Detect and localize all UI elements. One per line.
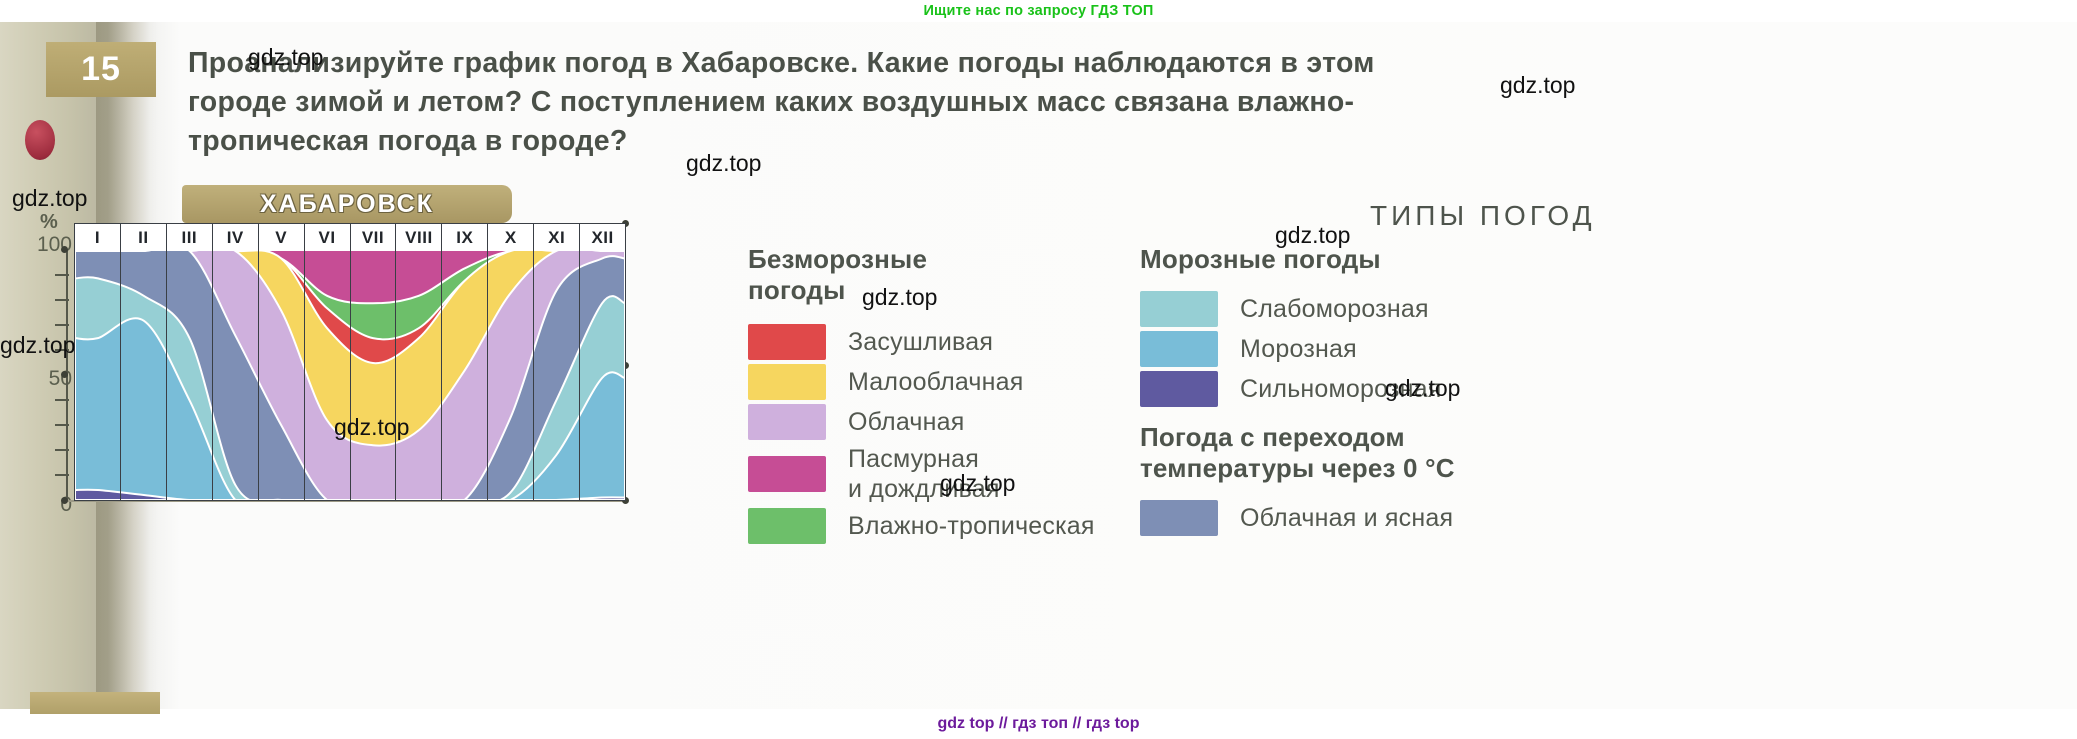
legend-transition-line1: Погода с переходом bbox=[1140, 422, 1660, 453]
watermark-7: gdz.top bbox=[1385, 375, 1460, 402]
legend-swatch bbox=[1140, 500, 1218, 536]
y-axis-dot-100 bbox=[61, 246, 68, 253]
y-axis-minor-tick bbox=[55, 449, 69, 451]
month-label-X: X bbox=[488, 224, 534, 251]
month-header-row: IIIIIIIVVVIVIIVIIIIXXXIXII bbox=[75, 224, 625, 251]
legend-item-label: Морозная bbox=[1240, 334, 1357, 364]
y-axis-minor-tick bbox=[55, 474, 69, 476]
legend-transition: Погода с переходом температуры через 0 °… bbox=[1140, 422, 1660, 540]
legend-frost-free-items: ЗасушливаяМалооблачнаяОблачнаяПасмурнаяи… bbox=[748, 324, 1128, 544]
month-label-I: I bbox=[75, 224, 121, 251]
y-axis-minor-tick bbox=[55, 399, 69, 401]
legend-swatch bbox=[748, 508, 826, 544]
legend-item-label: Малооблачная bbox=[848, 367, 1024, 397]
chart-city-title: ХАБАРОВСК bbox=[182, 185, 512, 223]
legend-swatch bbox=[748, 404, 826, 440]
watermark-5: gdz.top bbox=[862, 284, 937, 311]
watermark-9: gdz.top bbox=[940, 470, 1015, 497]
y-axis-minor-tick bbox=[55, 324, 69, 326]
legend-item: Пасмурнаяи дождливая bbox=[748, 444, 1128, 504]
stacked-area-plot bbox=[75, 251, 625, 500]
legend-item-label: Влажно-тропическая bbox=[848, 511, 1095, 541]
y-axis-dot-0 bbox=[61, 497, 68, 504]
legend-types-heading: ТИПЫ ПОГОД bbox=[1370, 200, 1596, 232]
legend-swatch bbox=[748, 324, 826, 360]
legend-item: Влажно-тропическая bbox=[748, 508, 1128, 544]
legend-title-line2: погоды bbox=[748, 275, 1128, 306]
legend-frost-free-title: Безморозные погоды bbox=[748, 244, 1128, 306]
y-axis-minor-tick bbox=[55, 424, 69, 426]
y-axis-dot-50 bbox=[61, 371, 68, 378]
bottom-ad-banner: gdz top // гдз топ // гдз top bbox=[0, 709, 2077, 739]
legend-item: Облачная и ясная bbox=[1140, 500, 1660, 536]
legend-item: Морозная bbox=[1140, 331, 1640, 367]
month-label-VIII: VIII bbox=[396, 224, 442, 251]
legend-swatch bbox=[1140, 331, 1218, 367]
legend-item: Засушливая bbox=[748, 324, 1128, 360]
legend-item-label: Слабоморозная bbox=[1240, 294, 1429, 324]
textbook-page: 15 Проанализируйте график погод в Хабаро… bbox=[0, 22, 2077, 709]
watermark-8: gdz.top bbox=[334, 414, 409, 441]
area-chart-svg bbox=[75, 251, 625, 500]
top-ad-banner: Ищите нас по запросу ГДЗ ТОП bbox=[0, 0, 2077, 22]
y-axis-tick-100: 100 bbox=[22, 233, 72, 257]
month-label-III: III bbox=[167, 224, 213, 251]
y-axis-unit-label: % bbox=[40, 211, 58, 234]
month-label-XI: XI bbox=[534, 224, 580, 251]
legend-item: Облачная bbox=[748, 404, 1128, 440]
legend-item-label: Засушливая bbox=[848, 327, 993, 357]
legend-frost-free: Безморозные погоды ЗасушливаяМалооблачна… bbox=[748, 244, 1128, 548]
month-label-VI: VI bbox=[305, 224, 351, 251]
watermark-4: gdz.top bbox=[1275, 222, 1350, 249]
watermark-2: gdz.top bbox=[686, 150, 761, 177]
legend-item-label: Облачная и ясная bbox=[1240, 503, 1453, 533]
y-axis-minor-tick bbox=[55, 274, 69, 276]
legend-transition-title: Погода с переходом температуры через 0 °… bbox=[1140, 422, 1660, 484]
legend-frosty-title: Морозные погоды bbox=[1140, 244, 1640, 275]
watermark-3: gdz.top bbox=[12, 185, 87, 212]
legend-swatch bbox=[748, 364, 826, 400]
month-label-II: II bbox=[121, 224, 167, 251]
legend-swatch bbox=[748, 456, 826, 492]
month-label-VII: VII bbox=[351, 224, 397, 251]
chart-plot-frame: IIIIIIIVVVIVIIVIIIIXXXIXII bbox=[74, 223, 626, 501]
month-label-IX: IX bbox=[442, 224, 488, 251]
legend-title-line1: Безморозные bbox=[748, 244, 1128, 275]
month-label-XII: XII bbox=[580, 224, 625, 251]
legend-item: Слабоморозная bbox=[1140, 291, 1640, 327]
watermark-1: gdz.top bbox=[1500, 72, 1575, 99]
legend-swatch bbox=[1140, 371, 1218, 407]
legend-transition-items: Облачная и ясная bbox=[1140, 500, 1660, 536]
watermark-0: gdz.top bbox=[248, 44, 323, 71]
watermark-6: gdz.top bbox=[0, 332, 75, 359]
month-label-IV: IV bbox=[213, 224, 259, 251]
y-axis-minor-tick bbox=[55, 299, 69, 301]
legend-item: Малооблачная bbox=[748, 364, 1128, 400]
legend-swatch bbox=[1140, 291, 1218, 327]
legend-transition-line2: температуры через 0 °C bbox=[1140, 453, 1660, 484]
month-label-V: V bbox=[259, 224, 305, 251]
legend-item-label: Облачная bbox=[848, 407, 964, 437]
